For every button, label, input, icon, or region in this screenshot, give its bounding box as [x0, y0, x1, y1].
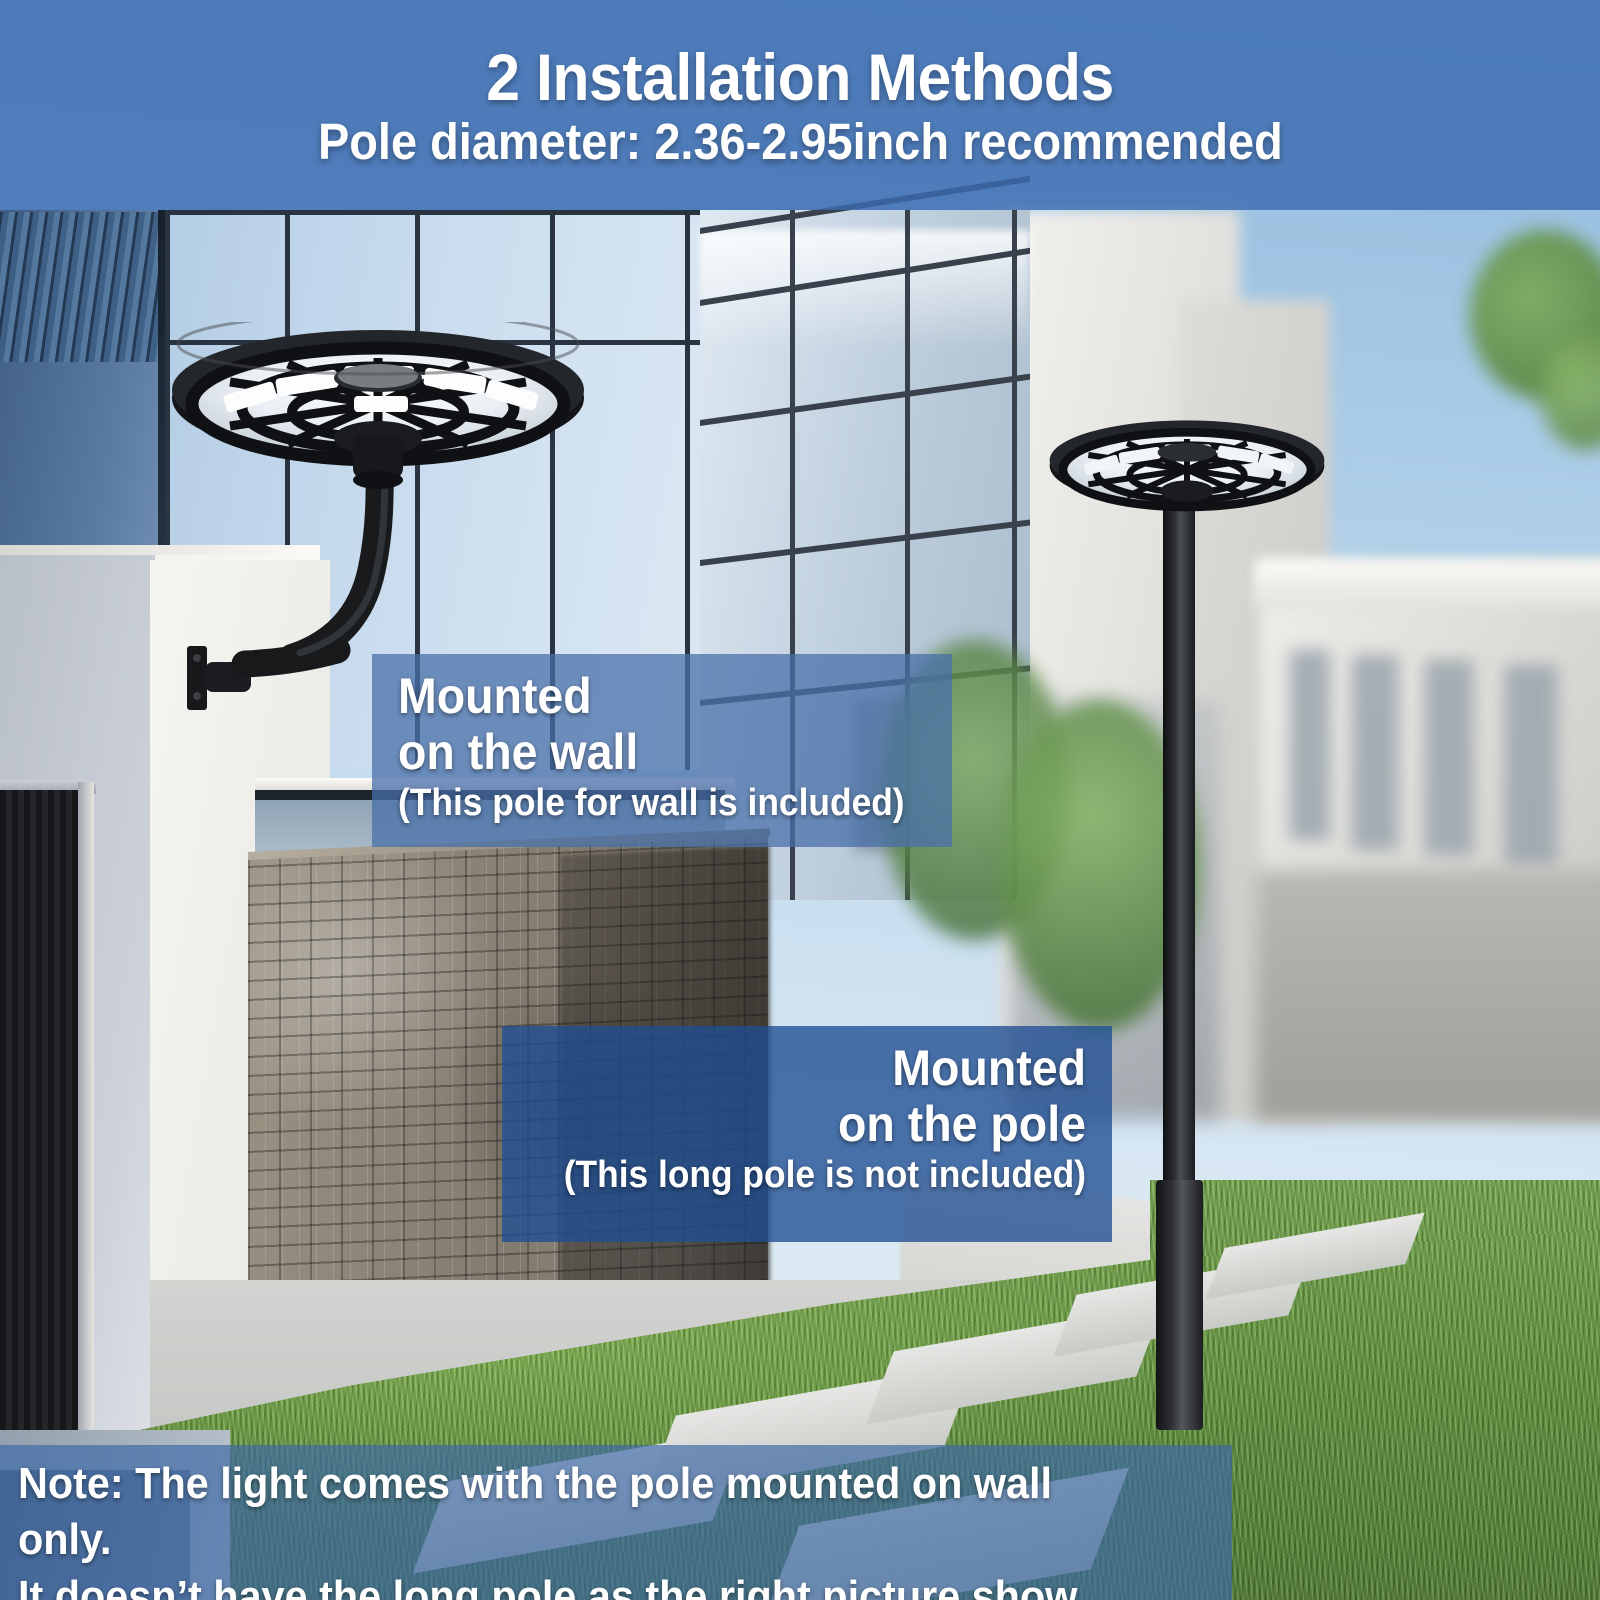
callout-wall-note: (This pole for wall is included) [398, 780, 913, 826]
callout-wall-line1: Mounted [398, 668, 913, 724]
background-building-eave [1255, 560, 1600, 608]
solar-ufo-lamp-wall-mounted [168, 322, 588, 502]
garage-door [0, 790, 83, 1430]
callout-wall-mounted: Mounted on the wall (This pole for wall … [372, 654, 952, 847]
callout-pole-note: (This long pole is not included) [543, 1152, 1086, 1198]
background-window [1290, 650, 1330, 840]
tall-pole [1163, 500, 1195, 1200]
note-text: Note: The light comes with the pole moun… [18, 1456, 1218, 1600]
building-louver-band [0, 212, 162, 362]
note-line2: It doesn’t have the long pole as the rig… [18, 1569, 1146, 1600]
glass-reflection [700, 230, 1030, 350]
header-banner: 2 Installation Methods Pole diameter: 2.… [0, 0, 1600, 210]
page-title: 2 Installation Methods [486, 44, 1114, 110]
background-window [1425, 660, 1473, 855]
product-infographic: 2 Installation Methods Pole diameter: 2.… [0, 0, 1600, 1600]
tall-pole-base [1156, 1180, 1203, 1430]
callout-pole-line1: Mounted [543, 1040, 1086, 1096]
background-window [1352, 655, 1398, 850]
callout-pole-line2: on the pole [543, 1096, 1086, 1152]
solar-ufo-lamp-pole-mounted [1042, 415, 1332, 535]
garage-door-frame [78, 782, 94, 1432]
page-subtitle: Pole diameter: 2.36-2.95inch recommended [318, 116, 1283, 167]
callout-wall-line2: on the wall [398, 724, 913, 780]
background-building-lower [1255, 870, 1600, 1120]
note-line1: Note: The light comes with the pole moun… [18, 1456, 1146, 1569]
stucco-top-edge [0, 545, 320, 555]
callout-pole-mounted: Mounted on the pole (This long pole is n… [502, 1026, 1112, 1242]
background-window [1505, 665, 1557, 865]
